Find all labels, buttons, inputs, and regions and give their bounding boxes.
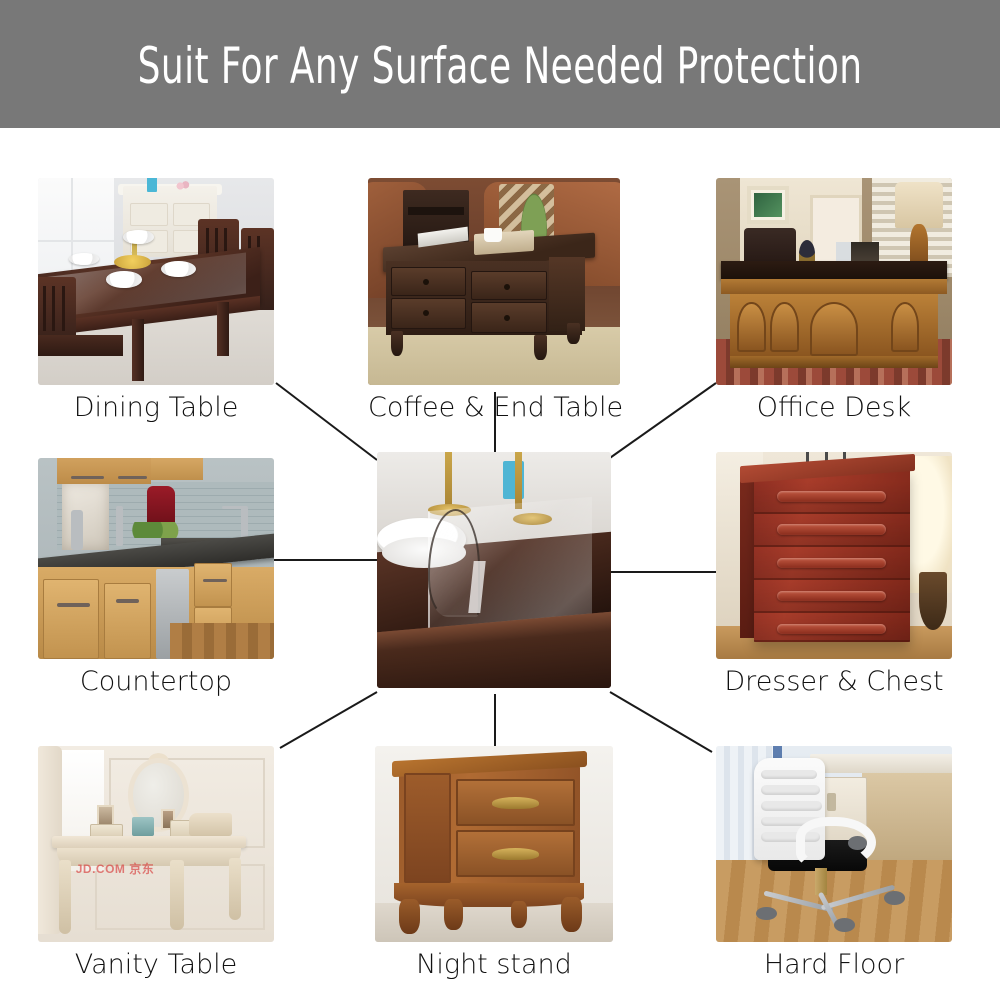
connector-office-desk: [607, 383, 716, 460]
tile-label-countertop: Countertop: [38, 666, 274, 697]
tile-label-dining-table: Dining Table: [38, 392, 274, 423]
tile-vanity-table[interactable]: JD.COM 京东 Vanity Table: [38, 746, 274, 980]
connector-dining-table: [276, 383, 377, 460]
header-banner: Suit For Any Surface Needed Protection: [0, 0, 1000, 128]
tile-night-stand[interactable]: Night stand: [375, 746, 613, 980]
tile-label-vanity-table: Vanity Table: [38, 949, 274, 980]
hub-product-photo[interactable]: [377, 452, 611, 688]
tile-office-desk[interactable]: Office Desk: [716, 178, 952, 423]
tile-label-coffee-end-table: Coffee & End Table: [368, 392, 620, 423]
coffee-end-table-image: [368, 178, 620, 385]
page-title: Suit For Any Surface Needed Protection: [138, 37, 863, 91]
watermark-jd: JD.COM 京东: [76, 860, 155, 877]
countertop-image: [38, 458, 274, 659]
tile-label-night-stand: Night stand: [375, 949, 613, 980]
tile-dresser-chest[interactable]: Dresser & Chest: [716, 452, 952, 697]
dining-table-image: [38, 178, 274, 385]
vanity-table-image: JD.COM 京东: [38, 746, 274, 942]
office-desk-image: [716, 178, 952, 385]
tile-label-office-desk: Office Desk: [716, 392, 952, 423]
center-product-image: [377, 452, 611, 688]
dresser-chest-image: [716, 452, 952, 659]
hard-floor-image: [716, 746, 952, 942]
tile-dining-table[interactable]: Dining Table: [38, 178, 274, 423]
connector-hard-floor: [610, 692, 712, 752]
tile-coffee-end-table[interactable]: Coffee & End Table: [368, 178, 620, 423]
night-stand-image: [375, 746, 613, 942]
product-infographic: Suit For Any Surface Needed Protection: [0, 0, 1000, 987]
tile-hard-floor[interactable]: Hard Floor: [716, 746, 952, 980]
connector-vanity-table: [280, 692, 377, 748]
tile-countertop[interactable]: Countertop: [38, 458, 274, 697]
tile-label-dresser-chest: Dresser & Chest: [716, 666, 952, 697]
tile-label-hard-floor: Hard Floor: [716, 949, 952, 980]
